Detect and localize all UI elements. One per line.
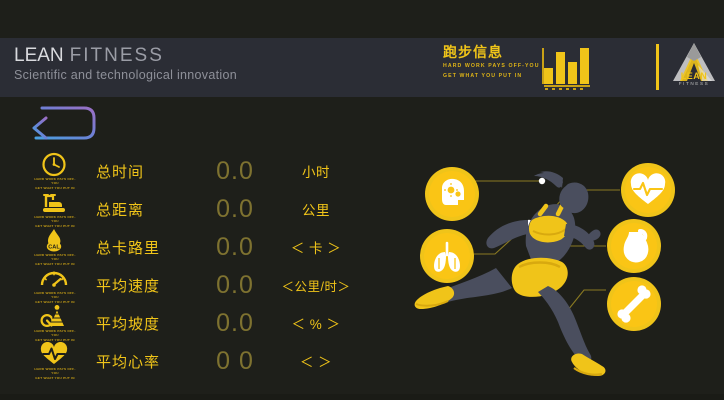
metric-unit: ＜公里/时＞ — [278, 276, 378, 295]
metric-label: 总卡路里 — [80, 237, 192, 258]
brand-logo: LEANFITNESS Scientific and technological… — [14, 46, 237, 82]
flame-cal-icon: CAL HARD WORK PAYS OFF-YOUGET WHAT YOU P… — [28, 228, 80, 266]
brain-head-icon — [425, 167, 479, 221]
badge-sub: FITNESS — [672, 81, 716, 87]
metric-unit: ＜ ＞ — [278, 351, 378, 371]
metric-label: 平均心率 — [80, 351, 192, 372]
speedometer-icon: HARD WORK PAYS OFF-YOUGET WHAT YOU PUT I… — [28, 266, 80, 304]
icon-caption: HARD WORK PAYS OFF-YOUGET WHAT YOU PUT I… — [31, 253, 79, 266]
accent-rule — [656, 44, 659, 90]
heart-icon — [621, 163, 675, 217]
svg-text:CAL: CAL — [48, 245, 60, 251]
metric-unit: 小时 — [278, 161, 378, 181]
metric-label: 平均坡度 — [80, 313, 192, 334]
metrics-list: HARD WORK PAYS OFF-YOUGET WHAT YOU PUT I… — [28, 152, 378, 380]
table-row[interactable]: HARD WORK PAYS OFF-YOUGET WHAT YOU PUT I… — [28, 190, 378, 228]
brand-title: LEANFITNESS — [14, 46, 237, 66]
metric-value: 0.0 — [192, 271, 278, 300]
runner-illustration — [400, 128, 724, 400]
table-row[interactable]: CAL HARD WORK PAYS OFF-YOUGET WHAT YOU P… — [28, 228, 378, 266]
metric-unit: 公里 — [278, 199, 378, 219]
lungs-icon — [420, 229, 474, 283]
metric-unit: ＜ % ＞ — [278, 313, 378, 333]
metric-value: 0 0 — [192, 347, 278, 376]
badge-name: LEAN — [672, 72, 716, 81]
incline-icon: HARD WORK PAYS OFF-YOUGET WHAT YOU PUT I… — [28, 304, 80, 342]
bone-icon — [607, 277, 661, 331]
running-info-header: 跑步信息 HARD WORK PAYS OFF-YOU GET WHAT YOU… — [443, 44, 603, 94]
brand-suffix: FITNESS — [70, 45, 164, 66]
icon-caption: HARD WORK PAYS OFF-YOUGET WHAT YOU PUT I… — [31, 329, 79, 342]
icon-caption: HARD WORK PAYS OFF-YOUGET WHAT YOU PUT I… — [31, 215, 79, 228]
metric-value: 0.0 — [192, 233, 278, 262]
table-row[interactable]: HARD WORK PAYS OFF-YOUGET WHAT YOU PUT I… — [28, 304, 378, 342]
stomach-icon — [607, 219, 661, 273]
icon-caption: HARD WORK PAYS OFF-YOUGET WHAT YOU PUT I… — [31, 177, 79, 190]
metric-label: 总距离 — [80, 199, 192, 220]
clock-icon: HARD WORK PAYS OFF-YOUGET WHAT YOU PUT I… — [28, 152, 80, 190]
metric-unit: ＜ 卡 ＞ — [278, 237, 378, 257]
bottom-edge — [0, 394, 724, 400]
table-row[interactable]: HARD WORK PAYS OFF-YOUGET WHAT YOU PUT I… — [28, 152, 378, 190]
heart-pulse-icon: HARD WORK PAYS OFF-YOUGET WHAT YOU PUT I… — [28, 342, 80, 380]
icon-caption: HARD WORK PAYS OFF-YOUGET WHAT YOU PUT I… — [31, 291, 79, 304]
table-row[interactable]: HARD WORK PAYS OFF-YOUGET WHAT YOU PUT I… — [28, 342, 378, 380]
bar-chart-icon — [542, 42, 604, 90]
metric-value: 0.0 — [192, 157, 278, 186]
metric-value: 0.0 — [192, 195, 278, 224]
treadmill-icon: HARD WORK PAYS OFF-YOUGET WHAT YOU PUT I… — [28, 190, 80, 228]
header-logo-badge: LEAN FITNESS — [656, 38, 724, 97]
metric-label: 总时间 — [80, 161, 192, 182]
top-edge — [0, 0, 724, 38]
back-arrow-icon[interactable] — [24, 104, 100, 148]
metric-value: 0.0 — [192, 309, 278, 338]
icon-caption: HARD WORK PAYS OFF-YOUGET WHAT YOU PUT I… — [31, 367, 79, 380]
brand-name: LEAN — [14, 45, 64, 66]
metric-label: 平均速度 — [80, 275, 192, 296]
brand-tagline: Scientific and technological innovation — [14, 68, 237, 82]
table-row[interactable]: HARD WORK PAYS OFF-YOUGET WHAT YOU PUT I… — [28, 266, 378, 304]
badge-text: LEAN FITNESS — [672, 72, 716, 87]
